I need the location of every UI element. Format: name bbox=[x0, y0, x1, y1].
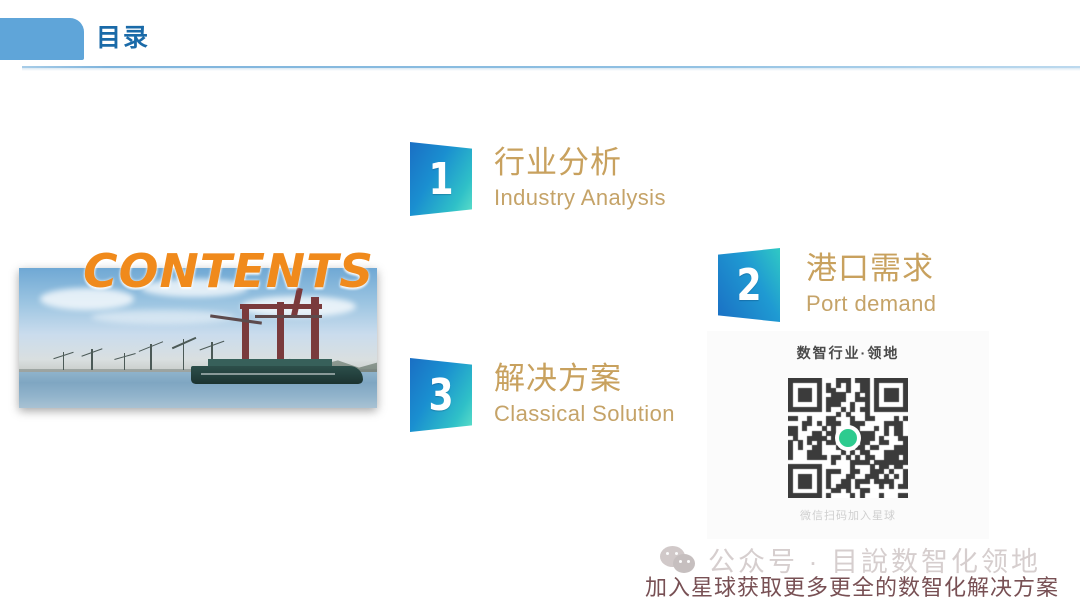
toc-number-badge-1: 1 bbox=[410, 142, 472, 216]
photo-container-ship bbox=[191, 366, 363, 384]
toc-entry-1-title-en: Industry Analysis bbox=[494, 184, 666, 212]
photo-crane bbox=[80, 349, 105, 370]
toc-entry-2-title-cn: 港口需求 bbox=[806, 250, 936, 288]
photo-crane bbox=[112, 353, 137, 370]
toc-number-2: 2 bbox=[724, 248, 775, 322]
toc-entry-2-text: 港口需求 Port demand bbox=[806, 248, 936, 318]
qr-code-image[interactable] bbox=[788, 378, 908, 498]
toc-number-badge-3: 3 bbox=[410, 358, 472, 432]
qr-card: 数智行业·领地 微信扫码加入星球 bbox=[707, 331, 989, 539]
header-divider-shadow bbox=[22, 68, 1080, 71]
qr-center-logo-icon bbox=[837, 427, 859, 449]
header-tab-accent bbox=[0, 18, 84, 60]
toc-entry-2-title-en: Port demand bbox=[806, 290, 936, 318]
toc-number-badge-2: 2 bbox=[718, 248, 780, 322]
slide-canvas: 目录 bbox=[0, 0, 1080, 608]
qr-card-caption: 微信扫码加入星球 bbox=[707, 507, 989, 523]
qr-card-title: 数智行业·领地 bbox=[707, 343, 989, 363]
toc-entry-3-text: 解决方案 Classical Solution bbox=[494, 358, 675, 428]
toc-entry-2[interactable]: 2 港口需求 Port demand bbox=[718, 248, 936, 322]
toc-entry-1[interactable]: 1 行业分析 Industry Analysis bbox=[410, 142, 666, 216]
contents-overlay-word: CONTENTS bbox=[83, 244, 374, 298]
page-title: 目录 bbox=[96, 20, 150, 56]
toc-entry-3-title-cn: 解决方案 bbox=[494, 360, 675, 398]
photo-ship-band bbox=[201, 373, 335, 375]
photo-gantry-crane bbox=[234, 288, 341, 369]
toc-entry-1-text: 行业分析 Industry Analysis bbox=[494, 142, 666, 212]
footer-note: 加入星球获取更多更全的数智化解决方案 bbox=[645, 570, 1059, 602]
toc-entry-1-title-cn: 行业分析 bbox=[494, 144, 666, 182]
toc-number-1: 1 bbox=[416, 142, 467, 216]
toc-number-3: 3 bbox=[416, 358, 467, 432]
toc-entry-3-title-en: Classical Solution bbox=[494, 400, 675, 428]
toc-entry-3[interactable]: 3 解决方案 Classical Solution bbox=[410, 358, 675, 432]
photo-crane bbox=[51, 352, 76, 370]
photo-crane bbox=[137, 344, 166, 371]
